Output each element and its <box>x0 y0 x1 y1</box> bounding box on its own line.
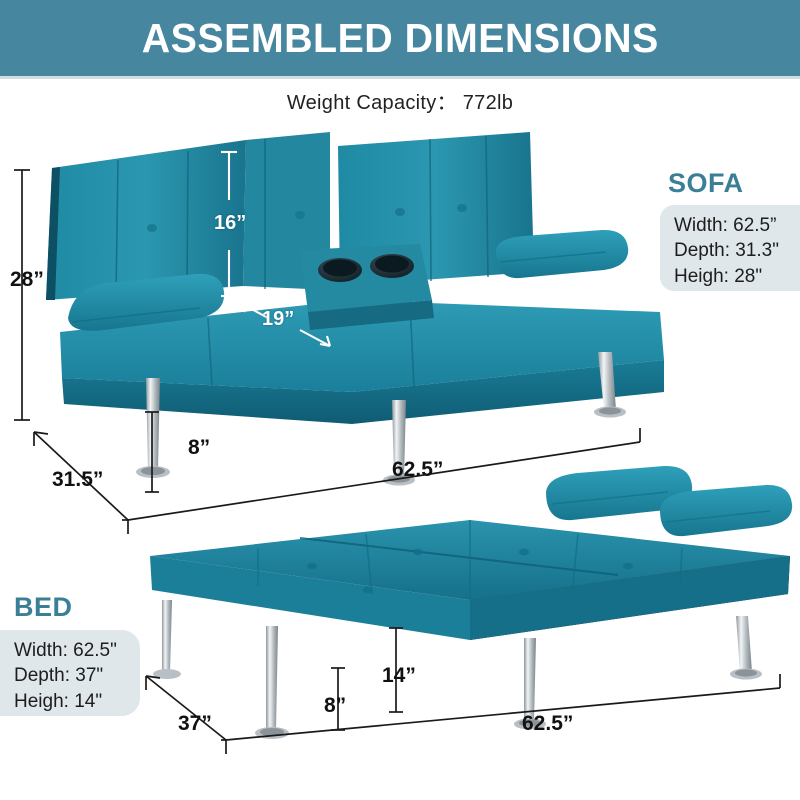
sofa-depth-callout: 31.5” <box>52 468 103 492</box>
bed-leg-callout: 8” <box>324 694 346 718</box>
bed-height-callout: 14” <box>382 664 416 688</box>
bed-spec-height: Heigh: 14" <box>14 689 130 714</box>
bed-spec-width: Width: 62.5" <box>14 638 130 663</box>
header-banner: ASSEMBLED DIMENSIONS <box>0 0 800 76</box>
infographic-page: ASSEMBLED DIMENSIONS Weight Capacity： 77… <box>0 0 800 800</box>
sofa-height-callout: 28” <box>10 268 44 292</box>
bed-illustration <box>150 466 792 739</box>
sofa-spec-height: Heigh: 28" <box>674 264 790 289</box>
sofa-legs <box>136 352 626 486</box>
weight-capacity-text: Weight Capacity： 772lb <box>0 86 800 115</box>
bed-spec-box: Width: 62.5" Depth: 37" Heigh: 14" <box>0 630 140 716</box>
sofa-spec-box: Width: 62.5” Depth: 31.3" Heigh: 28" <box>660 205 800 291</box>
sofa-leg-callout: 8” <box>188 436 210 460</box>
sofa-label: SOFA <box>668 168 744 199</box>
bed-width-callout: 62.5” <box>522 712 573 736</box>
sofa-backrest-callout: 16” <box>214 212 246 235</box>
sofa-spec-width: Width: 62.5” <box>674 213 790 238</box>
sofa-spec-depth: Depth: 31.3" <box>674 238 790 263</box>
bed-legs <box>153 600 762 739</box>
page-title: ASSEMBLED DIMENSIONS <box>142 15 659 62</box>
sofa-seat-depth-callout: 19” <box>262 308 294 331</box>
sofa-width-callout: 62.5” <box>392 458 443 482</box>
banner-underline <box>0 76 800 79</box>
bed-spec-depth: Depth: 37" <box>14 663 130 688</box>
bed-depth-callout: 37” <box>178 712 212 736</box>
sofa-illustration <box>46 132 664 486</box>
bed-label: BED <box>14 592 73 623</box>
